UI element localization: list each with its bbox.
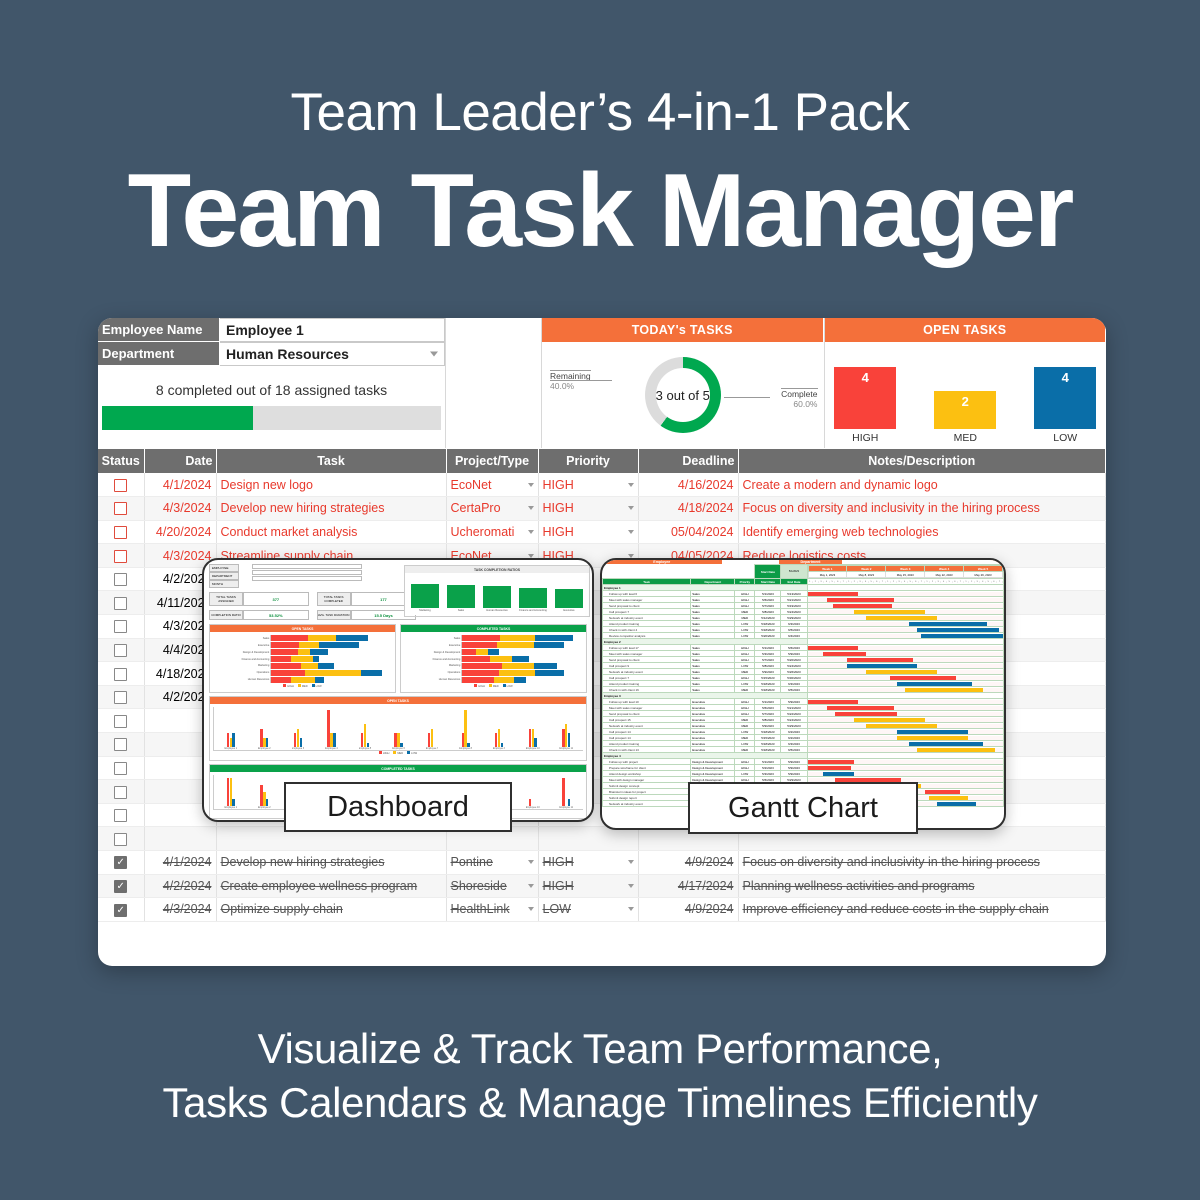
department-value: Human Resources (226, 346, 349, 362)
task-completion-ratios-chart: TASK COMPLETION RATIOS MarketingSalesHum… (404, 565, 590, 617)
gantt-tag-label: Gantt Chart (688, 782, 918, 834)
table-row[interactable]: ✓4/2/2024Create employee wellness progra… (98, 874, 1106, 898)
legend-item: MED (489, 684, 499, 688)
cell-task[interactable]: Optimize supply chain (216, 898, 446, 922)
filter-label-department: DEPARTMENT (209, 572, 239, 580)
legend-item: HIGH (379, 751, 389, 755)
table-row[interactable]: ✓4/3/2024Optimize supply chainHealthLink… (98, 898, 1106, 922)
cell-deadline[interactable]: 4/9/2024 (638, 851, 738, 875)
cell-priority[interactable]: HIGH (538, 874, 638, 898)
chart-bar: Design & Development (404, 649, 583, 655)
open-tasks-panel: OPEN TASKS 4HIGH2MED4LOW (825, 318, 1107, 448)
gantt-bar (808, 592, 859, 596)
gantt-week-date: May 1, 2023 (808, 572, 847, 578)
gantt-bar (835, 778, 901, 782)
chevron-down-icon[interactable] (628, 554, 634, 558)
dashboard-tag-label: Dashboard (284, 782, 512, 832)
gantt-bar (929, 796, 968, 800)
checkbox-unchecked[interactable] (114, 479, 127, 492)
chart-group: Employee 3 (281, 707, 315, 750)
checkbox-unchecked[interactable] (114, 502, 127, 515)
gantt-bar (835, 712, 898, 716)
checkbox-unchecked[interactable] (114, 597, 127, 610)
cell-status[interactable] (98, 497, 144, 521)
gantt-bar (917, 628, 999, 632)
gantt-bar (808, 646, 859, 650)
checkbox-unchecked[interactable] (114, 644, 127, 657)
cell-project[interactable]: Ucheromati (446, 520, 538, 544)
gantt-filter-department[interactable]: Department (779, 560, 843, 564)
chevron-down-icon[interactable] (528, 506, 534, 510)
complete-callout: Complete 60.0% (781, 388, 817, 410)
chart-bar: Executive (552, 576, 586, 612)
bar-value: 4 (834, 367, 896, 429)
checkbox-unchecked[interactable] (114, 833, 127, 846)
chart-group: Employee 4 (315, 707, 349, 750)
cell-date[interactable]: 4/20/2024 (144, 520, 216, 544)
chart-bar: Design & Development (213, 649, 392, 655)
table-row[interactable]: ✓4/1/2024Develop new hiring strategiesPo… (98, 851, 1106, 875)
cell-status[interactable] (98, 520, 144, 544)
cell-priority[interactable]: LOW (538, 898, 638, 922)
filter-input-department[interactable] (252, 570, 362, 575)
hero-section: Team Leader’s 4-in-1 Pack Team Task Mana… (0, 0, 1200, 266)
cell-task[interactable]: Conduct market analysis (216, 520, 446, 544)
open-tasks-dept-chart: OPEN TASKS SalesExecutiveDesign & Develo… (209, 624, 396, 693)
gantt-week-row: Start Date5/1/2023Week 1Week 2Week 3Week… (603, 565, 1004, 579)
checkbox-unchecked[interactable] (114, 715, 127, 728)
progress-section: 8 completed out of 18 assigned tasks (98, 366, 445, 430)
chart-bar: Sales (444, 576, 478, 612)
table-row[interactable]: 4/1/2024Design new logoEcoNetHIGH4/16/20… (98, 473, 1106, 497)
checkbox-unchecked[interactable] (114, 526, 127, 539)
tagline: Visualize & Track Team Performance, Task… (0, 1022, 1200, 1130)
cell-status[interactable] (98, 615, 144, 639)
chart-group: Employee 7 (415, 707, 449, 750)
chevron-down-icon[interactable] (628, 506, 634, 510)
gantt-week-date: May 22, 2023 (925, 572, 964, 578)
cell-status[interactable] (98, 780, 144, 804)
cell-notes[interactable]: Planning wellness activities and program… (738, 874, 1106, 898)
chart-bar: Marketing (404, 663, 583, 669)
bar-label: LOW (1053, 432, 1077, 444)
gantt-bar (866, 670, 936, 674)
gantt-bar (921, 634, 1003, 638)
open-tasks-title: OPEN TASKS (825, 318, 1107, 342)
filter-label-month: MONTH (209, 580, 239, 588)
chart-bar: Finance and Accounting (404, 656, 583, 662)
todays-tasks-body: Remaining 40.0% 3 out of 5 Complete 60.0… (542, 342, 824, 448)
tagline-line-2: Tasks Calendars & Manage Timelines Effic… (0, 1076, 1200, 1130)
chart-bar: Marketing (213, 663, 392, 669)
open-tasks-employee-chart: OPEN TASKS Employee 1Employee 2Employee … (209, 696, 587, 761)
leader-line (724, 397, 770, 398)
cell-status[interactable] (98, 827, 144, 851)
checkbox-unchecked[interactable] (114, 620, 127, 633)
gantt-bar (890, 676, 956, 680)
cell-status[interactable] (98, 662, 144, 686)
employee-name-value[interactable]: Employee 1 (220, 318, 445, 342)
department-row: Department Human Resources (98, 342, 445, 366)
kpi-label: TOTAL TASKS ASSIGNED (209, 592, 243, 606)
tasks-table-header-row: Status Date Task Project/Type Priority D… (98, 449, 1106, 474)
filter-input-month[interactable] (252, 576, 362, 581)
cell-date[interactable]: 4/3/2024 (144, 898, 216, 922)
department-select[interactable]: Human Resources (220, 342, 445, 366)
chevron-down-icon[interactable] (628, 530, 634, 534)
gantt-bar (808, 700, 859, 704)
gantt-week-date: May 15, 2023 (886, 572, 925, 578)
todays-tasks-title: TODAY's TASKS (542, 318, 824, 342)
cell-date[interactable]: 4/2/2024 (144, 874, 216, 898)
cell-task[interactable]: Design new logo (216, 473, 446, 497)
tasks-table-head: Status Date Task Project/Type Priority D… (98, 449, 1106, 474)
chart-plot: SalesExecutiveDesign & DevelopmentFinanc… (210, 632, 395, 692)
chart-group: Employee 10 (516, 775, 550, 809)
checkbox-unchecked[interactable] (114, 550, 127, 563)
cell-project[interactable]: Pontine (446, 851, 538, 875)
cell-status[interactable] (98, 733, 144, 757)
col-priority[interactable]: Priority (538, 449, 638, 474)
donut-chart: Remaining 40.0% 3 out of 5 Complete 60.0… (542, 342, 824, 448)
remaining-pct: 40.0% (550, 382, 591, 392)
chevron-down-icon[interactable] (628, 483, 634, 487)
kpi-value: 377 (243, 592, 309, 606)
gantt-tag-text: Gantt Chart (728, 792, 878, 825)
legend-item: HIGH (474, 684, 484, 688)
gantt-task-name: Network at industry event (603, 801, 691, 807)
tagline-line-1: Visualize & Track Team Performance, (0, 1022, 1200, 1076)
gantt-bar (897, 682, 971, 686)
kpi-total-assigned: TOTAL TASKS ASSIGNED 377 (209, 592, 309, 606)
open-task-bar-low: 4LOW (1034, 367, 1096, 444)
chart-plot: Employee 1Employee 2Employee 3Employee 4… (210, 704, 586, 760)
gantt-bar (897, 730, 967, 734)
gantt-filter-employee[interactable]: Employee (602, 560, 723, 564)
dashboard-kpi-row-1: TOTAL TASKS ASSIGNED 377 TOTAL TASKS COM… (204, 590, 421, 608)
hero-kicker: Team Leader’s 4-in-1 Pack (0, 86, 1200, 139)
donut-ring: 3 out of 5 (645, 357, 721, 433)
cell-priority[interactable]: HIGH (538, 497, 638, 521)
cell-notes[interactable]: Create a modern and dynamic logo (738, 473, 1106, 497)
chart-bar: Executive (213, 642, 392, 648)
chart-plot: SalesExecutiveDesign & DevelopmentFinanc… (401, 632, 586, 692)
cell-status[interactable]: ✓ (98, 874, 144, 898)
cell-status[interactable] (98, 567, 144, 591)
checkbox-checked[interactable]: ✓ (114, 856, 127, 869)
cell-priority[interactable]: HIGH (538, 851, 638, 875)
employee-name-label: Employee Name (98, 318, 220, 342)
chevron-down-icon[interactable] (430, 352, 438, 357)
progress-label: 8 completed out of 18 assigned tasks (102, 382, 441, 398)
cell-notes[interactable]: Focus on diversity and inclusivity in th… (738, 851, 1106, 875)
chart-group: Employee 10 (516, 707, 550, 750)
gantt-bar (827, 706, 893, 710)
chart-title: COMPLETED TASKS (210, 765, 586, 772)
cell-status[interactable] (98, 756, 144, 780)
chart-bar: Sales (213, 635, 392, 641)
gantt-bar (909, 622, 987, 626)
gantt-bar (833, 604, 892, 608)
gantt-bar (847, 664, 917, 668)
chart-group: Employee 11 (549, 775, 583, 809)
cell-status[interactable] (98, 803, 144, 827)
cell-date[interactable]: 4/3/2024 (144, 497, 216, 521)
gantt-top-bar: Employee Department (602, 560, 1004, 564)
chart-title: COMPLETED TASKS (401, 625, 586, 632)
legend-item: MED (298, 684, 308, 688)
legend-item: LOW (503, 684, 513, 688)
page-title: Team Task Manager (0, 157, 1200, 266)
chevron-down-icon[interactable] (528, 530, 534, 534)
gantt-bar (847, 658, 913, 662)
open-task-bar-high: 4HIGH (834, 367, 896, 444)
chart-title: TASK COMPLETION RATIOS (405, 566, 589, 573)
cell-project[interactable]: HealthLink (446, 898, 538, 922)
chart-plot: MarketingSalesHuman ResourcesFinance and… (405, 573, 589, 615)
col-deadline[interactable]: Deadline (638, 449, 738, 474)
cell-status[interactable] (98, 685, 144, 709)
gantt-week-date: May 29, 2023 (964, 572, 1003, 578)
chevron-down-icon[interactable] (628, 907, 634, 911)
legend-item: LOW (312, 684, 322, 688)
cell-priority[interactable] (538, 827, 638, 851)
cell-status[interactable]: ✓ (98, 851, 144, 875)
kpi-label: COMPLETION RATIO (209, 610, 243, 620)
cell-date[interactable]: 4/1/2024 (144, 851, 216, 875)
chart-group: Employee 6 (382, 707, 416, 750)
cell-deadline[interactable]: 05/04/2024 (638, 520, 738, 544)
gantt-bar (909, 742, 983, 746)
kpi-completion-ratio: COMPLETION RATIO 53.52% (209, 610, 309, 620)
remaining-callout: Remaining 40.0% (550, 370, 591, 392)
open-task-bar-med: 2MED (934, 391, 996, 444)
dashboard-kpi-row-2: COMPLETION RATIO 53.52% AVG. TASK DURATI… (204, 608, 421, 622)
gantt-bar (866, 724, 936, 728)
chart-group: Employee 2 (248, 775, 282, 809)
kpi-label: TOTAL TASKS COMPLETED (317, 592, 351, 606)
checkbox-unchecked[interactable] (114, 573, 127, 586)
col-notes[interactable]: Notes/Description (738, 449, 1106, 474)
gantt-bar (823, 652, 866, 656)
col-date[interactable]: Date (144, 449, 216, 474)
chart-bar: Human Resources (213, 677, 392, 683)
chart-title: OPEN TASKS (210, 625, 395, 632)
kpi-value: 53.52% (243, 610, 309, 620)
col-project[interactable]: Project/Type (446, 449, 538, 474)
checkbox-unchecked[interactable] (114, 668, 127, 681)
gantt-bar (808, 766, 851, 770)
cell-project[interactable]: Shoreside (446, 874, 538, 898)
open-tasks-bar-chart: 4HIGH2MED4LOW (825, 342, 1107, 448)
chart-bar: Human Resources (480, 576, 514, 612)
legend-item: LOW (407, 751, 417, 755)
cell-notes[interactable]: Identify emerging web technologies (738, 520, 1106, 544)
col-status[interactable]: Status (98, 449, 144, 474)
chevron-down-icon[interactable] (628, 884, 634, 888)
bar-value: 4 (1034, 367, 1096, 429)
chart-group: Employee 11 (549, 707, 583, 750)
spacer-column (446, 318, 542, 448)
chart-bar: Sales (404, 635, 583, 641)
gantt-bar (917, 748, 995, 752)
summary-zone: Employee Name Employee 1 Department Huma… (98, 318, 1106, 448)
cell-task[interactable]: Create employee wellness program (216, 874, 446, 898)
donut-center-label: 3 out of 5 (656, 388, 710, 403)
chart-bar: Operations (213, 670, 392, 676)
kpi-avg-duration: AVG. TASK DURATION 15.5 Days (317, 610, 417, 620)
chart-group: Employee 2 (248, 707, 282, 750)
bar-label: HIGH (852, 432, 878, 444)
cell-task[interactable]: Develop new hiring strategies (216, 851, 446, 875)
chevron-down-icon[interactable] (528, 907, 534, 911)
checkbox-unchecked[interactable] (114, 738, 127, 751)
bar-label: MED (954, 432, 977, 444)
chevron-down-icon[interactable] (528, 483, 534, 487)
checkbox-checked[interactable]: ✓ (114, 904, 127, 917)
table-row[interactable]: 4/3/2024Develop new hiring strategiesCer… (98, 497, 1106, 521)
completed-tasks-dept-chart: COMPLETED TASKS SalesExecutiveDesign & D… (400, 624, 587, 693)
cell-date[interactable]: 4/1/2024 (144, 473, 216, 497)
chart-bar: Executive (404, 642, 583, 648)
gantt-bar (854, 718, 924, 722)
dashboard-tag-text: Dashboard (327, 791, 469, 824)
cell-project[interactable]: CertaPro (446, 497, 538, 521)
checkbox-unchecked[interactable] (114, 786, 127, 799)
todays-tasks-panel: TODAY's TASKS Remaining 40.0% 3 out of 5… (542, 318, 825, 448)
kpi-label: AVG. TASK DURATION (317, 610, 351, 620)
open-tasks-body: 4HIGH2MED4LOW (825, 342, 1107, 448)
gantt-bar (905, 688, 983, 692)
cell-notes[interactable]: Focus on diversity and inclusivity in th… (738, 497, 1106, 521)
chart-group: Employee 8 (449, 707, 483, 750)
chart-group: Employee 1 (214, 707, 248, 750)
cell-deadline[interactable]: 4/9/2024 (638, 898, 738, 922)
cell-status[interactable] (98, 709, 144, 733)
gantt-bar (897, 736, 967, 740)
gantt-bar (854, 610, 924, 614)
cell-priority[interactable]: HIGH (538, 473, 638, 497)
gantt-start-date-label: Start Date (755, 565, 781, 579)
chevron-down-icon[interactable] (528, 884, 534, 888)
chart-group: Employee 5 (348, 707, 382, 750)
gantt-week-date: May 8, 2023 (847, 572, 886, 578)
complete-label: Complete (781, 388, 817, 400)
employee-info-block: Employee Name Employee 1 Department Huma… (98, 318, 446, 448)
cell-date[interactable] (144, 827, 216, 851)
filter-label-employee: EMPLOYEE (209, 564, 239, 572)
cell-status[interactable] (98, 544, 144, 568)
bar-value: 2 (934, 391, 996, 429)
cell-status[interactable] (98, 638, 144, 662)
gantt-bar (823, 772, 854, 776)
cell-status[interactable] (98, 591, 144, 615)
leader-line (550, 380, 612, 381)
gantt-start-date-value: 5/1/2023 (781, 565, 807, 579)
employee-name-row: Employee Name Employee 1 (98, 318, 445, 342)
cell-deadline[interactable]: 4/18/2024 (638, 497, 738, 521)
gantt-body: Start Date5/1/2023Week 1Week 2Week 3Week… (602, 564, 1004, 807)
gantt-bar (866, 616, 936, 620)
progress-fill (102, 406, 253, 430)
chevron-down-icon[interactable] (628, 860, 634, 864)
gantt-bar (827, 598, 893, 602)
chart-title: OPEN TASKS (210, 697, 586, 704)
gantt-bar (925, 790, 960, 794)
cell-project[interactable]: EcoNet (446, 473, 538, 497)
gantt-bar (808, 760, 855, 764)
legend-item: HIGH (283, 684, 293, 688)
checkbox-unchecked[interactable] (114, 691, 127, 704)
chart-bar: Marketing (408, 576, 442, 612)
chart-group: Employee 9 (482, 707, 516, 750)
legend-item: MED (393, 751, 403, 755)
table-row[interactable] (98, 827, 1106, 851)
cell-notes[interactable]: Improve efficiency and reduce costs in t… (738, 898, 1106, 922)
cell-deadline[interactable]: 4/16/2024 (638, 473, 738, 497)
chevron-down-icon[interactable] (528, 860, 534, 864)
cell-task[interactable]: Develop new hiring strategies (216, 497, 446, 521)
gantt-bar (937, 802, 976, 806)
table-row[interactable]: 4/20/2024Conduct market analysisUcheroma… (98, 520, 1106, 544)
col-task[interactable]: Task (216, 449, 446, 474)
cell-status[interactable]: ✓ (98, 898, 144, 922)
chart-bar: Finance and Accounting (516, 576, 550, 612)
filter-input-employee[interactable] (252, 564, 362, 569)
checkbox-unchecked[interactable] (114, 809, 127, 822)
checkbox-unchecked[interactable] (114, 762, 127, 775)
complete-pct: 60.0% (781, 400, 817, 410)
cell-status[interactable] (98, 473, 144, 497)
progress-bar (102, 406, 441, 430)
chevron-down-icon[interactable] (528, 554, 534, 558)
cell-deadline[interactable]: 4/17/2024 (638, 874, 738, 898)
gantt-table: Start Date5/1/2023Week 1Week 2Week 3Week… (602, 564, 1004, 807)
chart-bar: Human Resources (404, 677, 583, 683)
department-label: Department (98, 342, 220, 366)
cell-priority[interactable]: HIGH (538, 520, 638, 544)
kpi-total-completed: TOTAL TASKS COMPLETED 177 (317, 592, 417, 606)
chart-bar: Finance and Accounting (213, 656, 392, 662)
chart-group: Employee 1 (214, 775, 248, 809)
checkbox-checked[interactable]: ✓ (114, 880, 127, 893)
chart-bar: Operations (404, 670, 583, 676)
